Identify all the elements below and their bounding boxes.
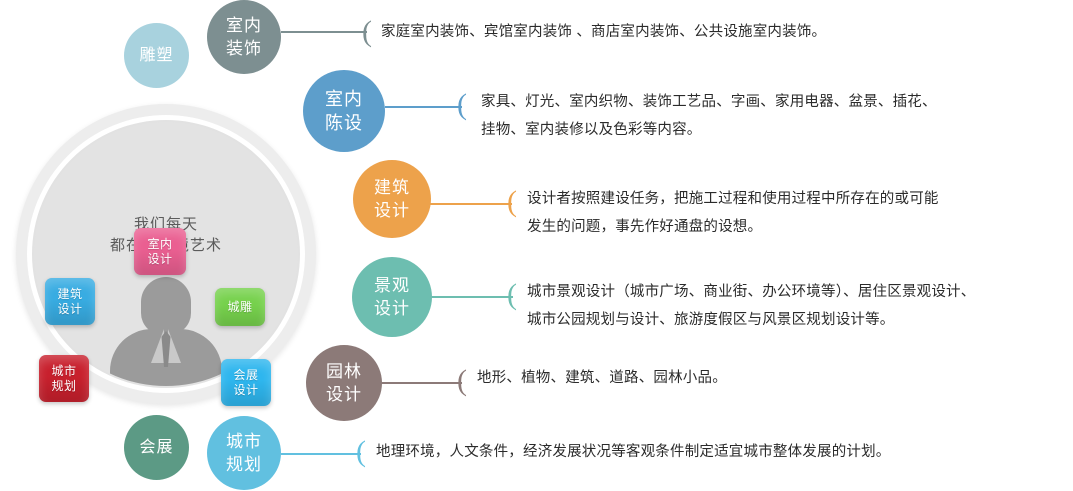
branch-bracket-icon: ( xyxy=(457,90,467,120)
branch-node[interactable]: 室内 陈设 xyxy=(303,70,385,152)
branch-description: 城市景观设计（城市广场、商业街、办公环境等）、居住区景观设计、 城市公园规划与设… xyxy=(527,278,1073,334)
branch-description: 设计者按照建设任务，把施工过程和使用过程中所存在的或可能 发生的问题，事先作好通… xyxy=(527,185,1067,241)
silhouette-collar-right xyxy=(168,329,181,363)
branch-description: 家庭室内装饰、宾馆室内装饰 、商店室内装饰、公共设施室内装饰。 xyxy=(381,18,1061,46)
branch-connector-line xyxy=(281,31,367,33)
branch-description: 家具、灯光、室内织物、装饰工艺品、字画、家用电器、盆景、插花、 挂物、室内装修以… xyxy=(481,88,1061,144)
person-silhouette-icon xyxy=(110,277,222,386)
infographic-canvas: 我们每天 都在被环境艺术 ······ 室内 设计建筑 设计城雕城市 规划会展 … xyxy=(0,0,1073,491)
branch-node[interactable]: 园林 设计 xyxy=(306,345,382,421)
branch-bracket-icon: ( xyxy=(457,366,467,396)
branch-connector-line xyxy=(381,382,462,384)
branch-connector-line xyxy=(430,203,512,205)
branch-bracket-icon: ( xyxy=(507,187,517,217)
hub-badge[interactable]: 会展 设计 xyxy=(221,359,271,406)
branch-node[interactable]: 景观 设计 xyxy=(352,257,432,337)
environment-art-hub: 我们每天 都在被环境艺术 ······ 室内 设计建筑 设计城雕城市 规划会展 … xyxy=(16,104,316,404)
branch-description: 地形、植物、建筑、道路、园林小品。 xyxy=(477,364,1017,392)
branch-node[interactable]: 建筑 设计 xyxy=(353,160,431,238)
branch-description: 地理环境，人文条件，经济发展状况等客观条件制定适宜城市整体发展的计划。 xyxy=(376,438,1036,466)
branch-bracket-icon: ( xyxy=(507,280,517,310)
hub-badge[interactable]: 建筑 设计 xyxy=(45,278,95,325)
hub-badge[interactable]: 城市 规划 xyxy=(39,355,89,402)
silhouette-head xyxy=(141,277,191,335)
hub-badge[interactable]: 室内 设计 xyxy=(134,228,186,275)
branch-bracket-icon: ( xyxy=(362,17,372,47)
hub-badge[interactable]: 城雕 xyxy=(215,288,265,326)
branch-node[interactable]: 室内 装饰 xyxy=(207,0,281,74)
branch-connector-line xyxy=(385,106,462,108)
branch-connector-line xyxy=(281,453,361,455)
branch-connector-line xyxy=(431,296,513,298)
branch-node[interactable]: 城市 规划 xyxy=(207,416,281,490)
satellite-node[interactable]: 会展 xyxy=(124,415,189,480)
silhouette-collar-left xyxy=(151,329,164,363)
branch-bracket-icon: ( xyxy=(356,437,366,467)
satellite-node[interactable]: 雕塑 xyxy=(124,23,189,88)
